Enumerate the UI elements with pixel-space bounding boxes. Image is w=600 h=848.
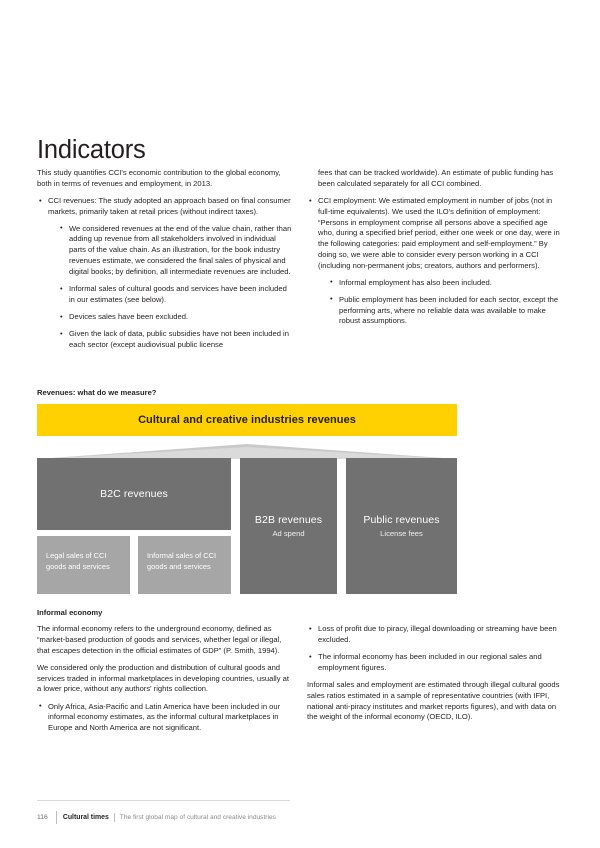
footer-divider-icon xyxy=(114,813,115,822)
informal-economy-paragraph-2: We considered only the production and di… xyxy=(37,663,293,695)
document-page: Indicators This study quantifies CCI's e… xyxy=(0,0,600,848)
list-item: Only Africa, Asia-Pacific and Latin Amer… xyxy=(37,702,293,734)
bullet-text-loss-of-profit: Loss of profit due to piracy, illegal do… xyxy=(318,624,563,646)
diagram-subbox-label: Informal sales of CCI goods and services xyxy=(147,551,216,571)
bullet-text-informal-employment: Informal employment has also been includ… xyxy=(339,278,563,289)
diagram-box-row: B2C revenues Legal sales of CCI goods an… xyxy=(37,458,457,594)
bullet-text-cci-revenues: CCI revenues: The study adopted an appro… xyxy=(48,196,293,218)
diagram-box-b2c-revenues: B2C revenues xyxy=(37,458,231,530)
diagram-box-title: Public revenues xyxy=(363,514,439,526)
diagram-box-title: B2C revenues xyxy=(100,488,168,500)
footer-bracket-icon xyxy=(56,811,57,824)
diagram-box-public-revenues: Public revenues License fees xyxy=(346,458,457,594)
list-item: Public employment has been included for … xyxy=(328,295,563,327)
list-item: Informal sales of cultural goods and ser… xyxy=(58,284,293,306)
diagram-box-b2b-revenues: B2B revenues Ad spend xyxy=(240,458,337,594)
informal-economy-column-left: The informal economy refers to the under… xyxy=(37,624,293,741)
revenues-diagram: Cultural and creative industries revenue… xyxy=(37,404,457,594)
footer-page-number: 116 xyxy=(37,814,48,821)
informal-economy-right-bullet-list: Loss of profit due to piracy, illegal do… xyxy=(307,624,563,674)
list-item-continuation: fees that can be tracked worldwide). An … xyxy=(307,168,563,190)
diagram-box-title: B2B revenues xyxy=(255,514,322,526)
list-item: Informal employment has also been includ… xyxy=(328,278,563,289)
informal-economy-left-bullet-list: Only Africa, Asia-Pacific and Latin Amer… xyxy=(37,702,293,734)
intro-right-bullet-list: fees that can be tracked worldwide). An … xyxy=(307,168,563,327)
list-item: CCI revenues: The study adopted an appro… xyxy=(37,196,293,351)
list-item: Given the lack of data, public subsidies… xyxy=(58,329,293,351)
intro-left-bullet-list: CCI revenues: The study adopted an appro… xyxy=(37,196,293,351)
intro-right-sub-bullet-list: Informal employment has also been includ… xyxy=(318,278,563,328)
diagram-subbox-legal-sales: Legal sales of CCI goods and services xyxy=(37,536,130,594)
diagram-connector-shape xyxy=(37,444,457,459)
page-title: Indicators xyxy=(37,136,146,164)
bullet-text-public-subsidies: Given the lack of data, public subsidies… xyxy=(69,329,293,351)
footer: 116 Cultural times The first global map … xyxy=(37,809,567,825)
bullet-text-informal-sales: Informal sales of cultural goods and ser… xyxy=(69,284,293,306)
intro-left-sub-bullet-list: We considered revenues at the end of the… xyxy=(48,224,293,351)
intro-column-left: This study quantifies CCI's economic con… xyxy=(37,168,293,357)
list-item: We considered revenues at the end of the… xyxy=(58,224,293,278)
bullet-text-public-employment: Public employment has been included for … xyxy=(339,295,563,327)
diagram-box-subtitle: License fees xyxy=(380,529,423,538)
bullet-text-subsidies-continuation: fees that can be tracked worldwide). An … xyxy=(318,168,563,190)
bullet-text-devices-sales: Devices sales have been excluded. xyxy=(69,312,293,323)
list-item: CCI employment: We estimated employment … xyxy=(307,196,563,327)
list-item: Loss of profit due to piracy, illegal do… xyxy=(307,624,563,646)
diagram-banner: Cultural and creative industries revenue… xyxy=(37,404,457,436)
diagram-subbox-label: Legal sales of CCI goods and services xyxy=(46,551,110,571)
footer-subtitle: The first global map of cultural and cre… xyxy=(120,814,276,821)
informal-economy-estimation-paragraph: Informal sales and employment are estima… xyxy=(307,680,563,723)
informal-economy-column-right: Loss of profit due to piracy, illegal do… xyxy=(307,624,563,730)
diagram-caption: Revenues: what do we measure? xyxy=(37,388,156,397)
bullet-text-regions-included: Only Africa, Asia-Pacific and Latin Amer… xyxy=(48,702,293,734)
footer-rule xyxy=(37,800,290,801)
bullet-text-value-chain: We considered revenues at the end of the… xyxy=(69,224,293,278)
footer-brand-title: Cultural times xyxy=(63,814,109,821)
diagram-box-subtitle: Ad spend xyxy=(272,529,304,538)
informal-economy-paragraph-1: The informal economy refers to the under… xyxy=(37,624,293,656)
bullet-text-regional-figures: The informal economy has been included i… xyxy=(318,652,563,674)
list-item: The informal economy has been included i… xyxy=(307,652,563,674)
intro-lead-paragraph: This study quantifies CCI's economic con… xyxy=(37,168,293,190)
list-item: Devices sales have been excluded. xyxy=(58,312,293,323)
intro-column-right: fees that can be tracked worldwide). An … xyxy=(307,168,563,334)
diagram-subbox-informal-sales: Informal sales of CCI goods and services xyxy=(138,536,231,594)
bullet-text-cci-employment: CCI employment: We estimated employment … xyxy=(318,196,563,271)
section-heading-informal-economy: Informal economy xyxy=(37,608,102,617)
diagram-banner-label: Cultural and creative industries revenue… xyxy=(138,414,356,426)
